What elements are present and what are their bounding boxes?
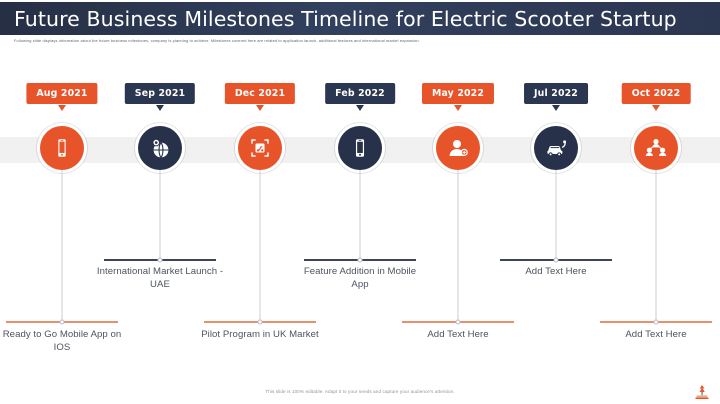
scooter-frame-icon[interactable]: [238, 126, 282, 170]
badge-pointer-icon: [156, 105, 164, 111]
milestone-connector-line: [656, 170, 657, 322]
badge-pointer-icon: [256, 105, 264, 111]
milestone-underline-bar: [304, 259, 416, 261]
milestone-underline-bar: [6, 321, 118, 323]
milestone-connector-line: [160, 170, 161, 260]
milestone-connector-line: [360, 170, 361, 260]
milestone-label[interactable]: Add Text Here: [591, 328, 720, 341]
brand-logo-icon: [692, 383, 712, 401]
milestone-underline-bar: [600, 321, 712, 323]
milestone-node-dot: [654, 320, 659, 325]
timeline-slide: Future Business Milestones Timeline for …: [0, 0, 720, 404]
team-network-icon[interactable]: [634, 126, 678, 170]
milestone-underline-bar: [104, 259, 216, 261]
footer-note: This slide is 100% editable. Adapt it to…: [0, 389, 720, 394]
milestone-date-badge[interactable]: Jul 2022: [525, 84, 587, 103]
milestone-connector-line: [458, 170, 459, 322]
milestone-date-badge[interactable]: Oct 2022: [623, 84, 690, 103]
milestone-node-dot: [456, 320, 461, 325]
milestone-label[interactable]: International Market Launch - UAE: [95, 265, 225, 291]
milestone-date-badge[interactable]: May 2022: [423, 84, 493, 103]
milestone-underline-bar: [500, 259, 612, 261]
milestone-node-dot: [358, 258, 363, 263]
milestone-node-dot: [554, 258, 559, 263]
milestone-label[interactable]: Add Text Here: [393, 328, 523, 341]
milestone-underline-bar: [402, 321, 514, 323]
milestone-label[interactable]: Ready to Go Mobile App on IOS: [0, 328, 127, 354]
badge-pointer-icon: [552, 105, 560, 111]
milestone-node-dot: [158, 258, 163, 263]
mobile-phone-icon[interactable]: [40, 126, 84, 170]
milestone-date-badge[interactable]: Sep 2021: [126, 84, 194, 103]
car-vehicle-icon[interactable]: [534, 126, 578, 170]
milestone-underline-bar: [204, 321, 316, 323]
milestone-date-badge[interactable]: Aug 2021: [27, 84, 96, 103]
milestone-connector-line: [62, 170, 63, 322]
milestone-label[interactable]: Add Text Here: [491, 265, 621, 278]
milestone-label[interactable]: Feature Addition in Mobile App: [295, 265, 425, 291]
milestone-date-badge[interactable]: Feb 2022: [326, 84, 394, 103]
milestone-node-dot: [258, 320, 263, 325]
badge-pointer-icon: [652, 105, 660, 111]
badge-pointer-icon: [356, 105, 364, 111]
smartphone-icon[interactable]: [338, 126, 382, 170]
badge-pointer-icon: [58, 105, 66, 111]
milestone-node-dot: [60, 320, 65, 325]
milestone-date-badge[interactable]: Dec 2021: [226, 84, 294, 103]
milestone-label[interactable]: Pilot Program in UK Market: [195, 328, 325, 341]
badge-pointer-icon: [454, 105, 462, 111]
milestone-connector-line: [260, 170, 261, 322]
timeline-track: Aug 2021Ready to Go Mobile App on IOSSep…: [0, 0, 720, 404]
globe-network-icon[interactable]: [138, 126, 182, 170]
user-person-icon[interactable]: [436, 126, 480, 170]
milestone-connector-line: [556, 170, 557, 260]
